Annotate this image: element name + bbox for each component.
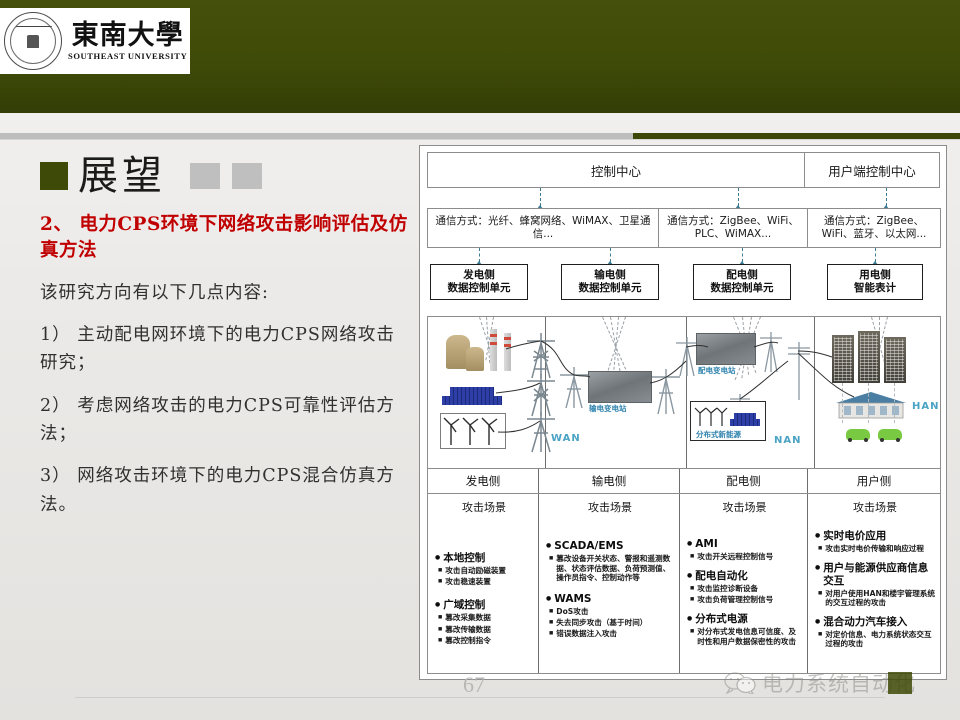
connector-arrow: [540, 188, 541, 206]
attack-column: 攻击场景 实时电价应用 攻击实时电价传输和响应过程 用户与能源供应商信息交互 对…: [808, 494, 940, 673]
decor-square-icon-2: [232, 163, 262, 189]
power-line-wires: [428, 317, 941, 468]
attack-title: 混合动力汽车接入: [815, 616, 935, 629]
attack-bullet: 篡改控制指令: [435, 636, 533, 646]
attack-group: WAMS DoS攻击 失去同步攻击（基于时间） 错误数据注入攻击: [546, 593, 674, 640]
data-control-unit: 用电侧 智能表计: [827, 264, 923, 300]
page-number: 67: [463, 672, 485, 698]
stage-label: 配电侧: [680, 469, 808, 493]
attack-bullet: 攻击自动励磁装置: [435, 566, 533, 576]
list-item: 3） 网络攻击环境下的电力CPS混合仿真方法。: [40, 462, 412, 519]
attack-bullet: 攻击开关远程控制信号: [687, 552, 802, 562]
connector-arrow: [738, 188, 739, 206]
logo-chinese-name: 東南大學: [72, 22, 184, 49]
university-logo: 東南大學 SOUTHEAST UNIVERSITY: [0, 8, 190, 74]
attack-column: 攻击场景 SCADA/EMS 篡改设备开关状态、警报和遥测数据、状态评估数据、负…: [539, 494, 680, 673]
attack-bullet: DoS攻击: [546, 607, 674, 617]
attack-group: AMI 攻击开关远程控制信号: [687, 538, 802, 562]
comm-method-box: 通信方式：ZigBee、WiFi、PLC、WiMAX...: [658, 208, 808, 248]
page-title: 展望: [78, 156, 166, 196]
user-control-center-box: 用户端控制中心: [804, 152, 940, 188]
unit-line-1: 发电侧: [463, 269, 495, 281]
stage-label: 发电侧: [428, 469, 539, 493]
divider-hairline: [0, 139, 960, 140]
communication-method-row: 通信方式：光纤、蜂窝网络、WiMAX、卫星通信... 通信方式：ZigBee、W…: [427, 208, 941, 248]
stage-label-row: 发电侧 输电侧 配电侧 用户侧: [427, 468, 941, 494]
header-band: 東南大學 SOUTHEAST UNIVERSITY: [0, 0, 960, 113]
unit-line-1: 输电侧: [594, 269, 626, 281]
attack-column: 攻击场景 本地控制 攻击自动励磁装置 攻击稳速装置 广域控制 篡改采集数据 篡改…: [428, 494, 539, 673]
decor-square-icon-1: [190, 163, 220, 189]
data-control-unit: 输电侧 数据控制单元: [561, 264, 659, 300]
data-control-unit: 配电侧 数据控制单元: [693, 264, 791, 300]
connector-arrow: [742, 248, 743, 262]
control-center-row: 控制中心 用户端控制中心: [427, 152, 941, 188]
bullet-square-icon: [40, 162, 68, 190]
control-center-box: 控制中心: [427, 152, 805, 188]
list-item: 1） 主动配电网环境下的电力CPS网络攻击研究；: [40, 321, 412, 378]
connector-arrow: [610, 248, 611, 262]
attack-header: 攻击场景: [546, 499, 674, 515]
attack-title: SCADA/EMS: [546, 540, 674, 553]
connector-arrow: [875, 248, 876, 262]
attack-bullet: 攻击稳速装置: [435, 577, 533, 587]
attack-bullet: 对定价信息、电力系统状态交互过程的攻击: [815, 630, 935, 649]
unit-line-2: 数据控制单元: [579, 282, 642, 294]
attack-title: 实时电价应用: [815, 530, 935, 543]
grid-illustration-band: 输电变电站 WAN 配电变电站: [427, 316, 941, 468]
attack-group: SCADA/EMS 篡改设备开关状态、警报和遥测数据、状态评估数据、负荷预测值、…: [546, 540, 674, 583]
attack-title: AMI: [687, 538, 802, 551]
wechat-icon: [723, 672, 757, 694]
attack-bullet: 攻击监控诊断设备: [687, 584, 802, 594]
attack-title: 用户与能源供应商信息交互: [815, 562, 935, 587]
intro-text: 该研究方向有以下几点内容:: [40, 279, 412, 307]
unit-line-2: 智能表计: [854, 282, 896, 294]
attack-bullet: 攻击负荷管理控制信号: [687, 595, 802, 605]
section-title-row: 展望: [40, 150, 412, 202]
cps-architecture-diagram: 控制中心 用户端控制中心 通信方式：光纤、蜂窝网络、WiMAX、卫星通信... …: [419, 145, 947, 680]
university-seal-icon: [4, 12, 62, 70]
attack-bullet: 攻击实时电价传输和响应过程: [815, 544, 935, 554]
attack-title: 广域控制: [435, 599, 533, 612]
attack-bullet: 对用户使用HAN和楼宇管理系统的交互过程的攻击: [815, 589, 935, 608]
attack-header: 攻击场景: [687, 499, 802, 515]
attack-title: 分布式电源: [687, 613, 802, 626]
unit-line-1: 配电侧: [726, 269, 758, 281]
attack-title: WAMS: [546, 593, 674, 606]
subsection-heading: 2、 电力CPS环境下网络攻击影响评估及仿真方法: [40, 212, 412, 265]
comm-method-box: 通信方式：ZigBee、WiFi、蓝牙、以太网...: [807, 208, 941, 248]
attack-scenario-row: 攻击场景 本地控制 攻击自动励磁装置 攻击稳速装置 广域控制 篡改采集数据 篡改…: [427, 494, 941, 674]
attack-bullet: 篡改传输数据: [435, 625, 533, 635]
attack-header: 攻击场景: [815, 499, 935, 515]
attack-column: 攻击场景 AMI 攻击开关远程控制信号 配电自动化 攻击监控诊断设备 攻击负荷管…: [680, 494, 808, 673]
attack-group: 混合动力汽车接入 对定价信息、电力系统状态交互过程的攻击: [815, 616, 935, 649]
list-item: 2） 考虑网络攻击的电力CPS可靠性评估方法；: [40, 392, 412, 449]
comm-method-box: 通信方式：光纤、蜂窝网络、WiMAX、卫星通信...: [427, 208, 659, 248]
attack-title: 配电自动化: [687, 570, 802, 583]
logo-english-name: SOUTHEAST UNIVERSITY: [68, 51, 187, 61]
attack-bullet: 对分布式发电信息可信度、及时性和用户数据保密性的攻击: [687, 627, 802, 646]
attack-group: 配电自动化 攻击监控诊断设备 攻击负荷管理控制信号: [687, 570, 802, 605]
unit-line-2: 数据控制单元: [448, 282, 511, 294]
attack-bullet: 失去同步攻击（基于时间）: [546, 618, 674, 628]
content-left-column: 展望 2、 电力CPS环境下网络攻击影响评估及仿真方法 该研究方向有以下几点内容…: [40, 150, 412, 660]
unit-line-1: 用电侧: [859, 269, 891, 281]
attack-group: 实时电价应用 攻击实时电价传输和响应过程: [815, 530, 935, 554]
attack-group: 本地控制 攻击自动励磁装置 攻击稳速装置: [435, 552, 533, 587]
slide-canvas: 東南大學 SOUTHEAST UNIVERSITY 展望 2、 电力CPS环境下…: [0, 0, 960, 720]
attack-title: 本地控制: [435, 552, 533, 565]
attack-group: 用户与能源供应商信息交互 对用户使用HAN和楼宇管理系统的交互过程的攻击: [815, 562, 935, 608]
attack-group: 分布式电源 对分布式发电信息可信度、及时性和用户数据保密性的攻击: [687, 613, 802, 646]
attack-header: 攻击场景: [435, 499, 533, 515]
unit-line-2: 数据控制单元: [711, 282, 774, 294]
stage-label: 输电侧: [539, 469, 680, 493]
attack-bullet: 篡改采集数据: [435, 613, 533, 623]
connector-arrow: [479, 248, 480, 262]
attack-group: 广域控制 篡改采集数据 篡改传输数据 篡改控制指令: [435, 599, 533, 646]
connector-arrow: [886, 188, 887, 206]
attack-bullet: 篡改设备开关状态、警报和遥测数据、状态评估数据、负荷预测值、操作员指令、控制动作…: [546, 554, 674, 582]
watermark-olive-block: [888, 672, 912, 694]
stage-label: 用户侧: [808, 469, 940, 493]
data-control-unit: 发电侧 数据控制单元: [430, 264, 528, 300]
attack-bullet: 错误数据注入攻击: [546, 629, 674, 639]
data-control-unit-row: 发电侧 数据控制单元 输电侧 数据控制单元 配电侧 数据控制单元 用电侧 智能表…: [427, 264, 941, 300]
